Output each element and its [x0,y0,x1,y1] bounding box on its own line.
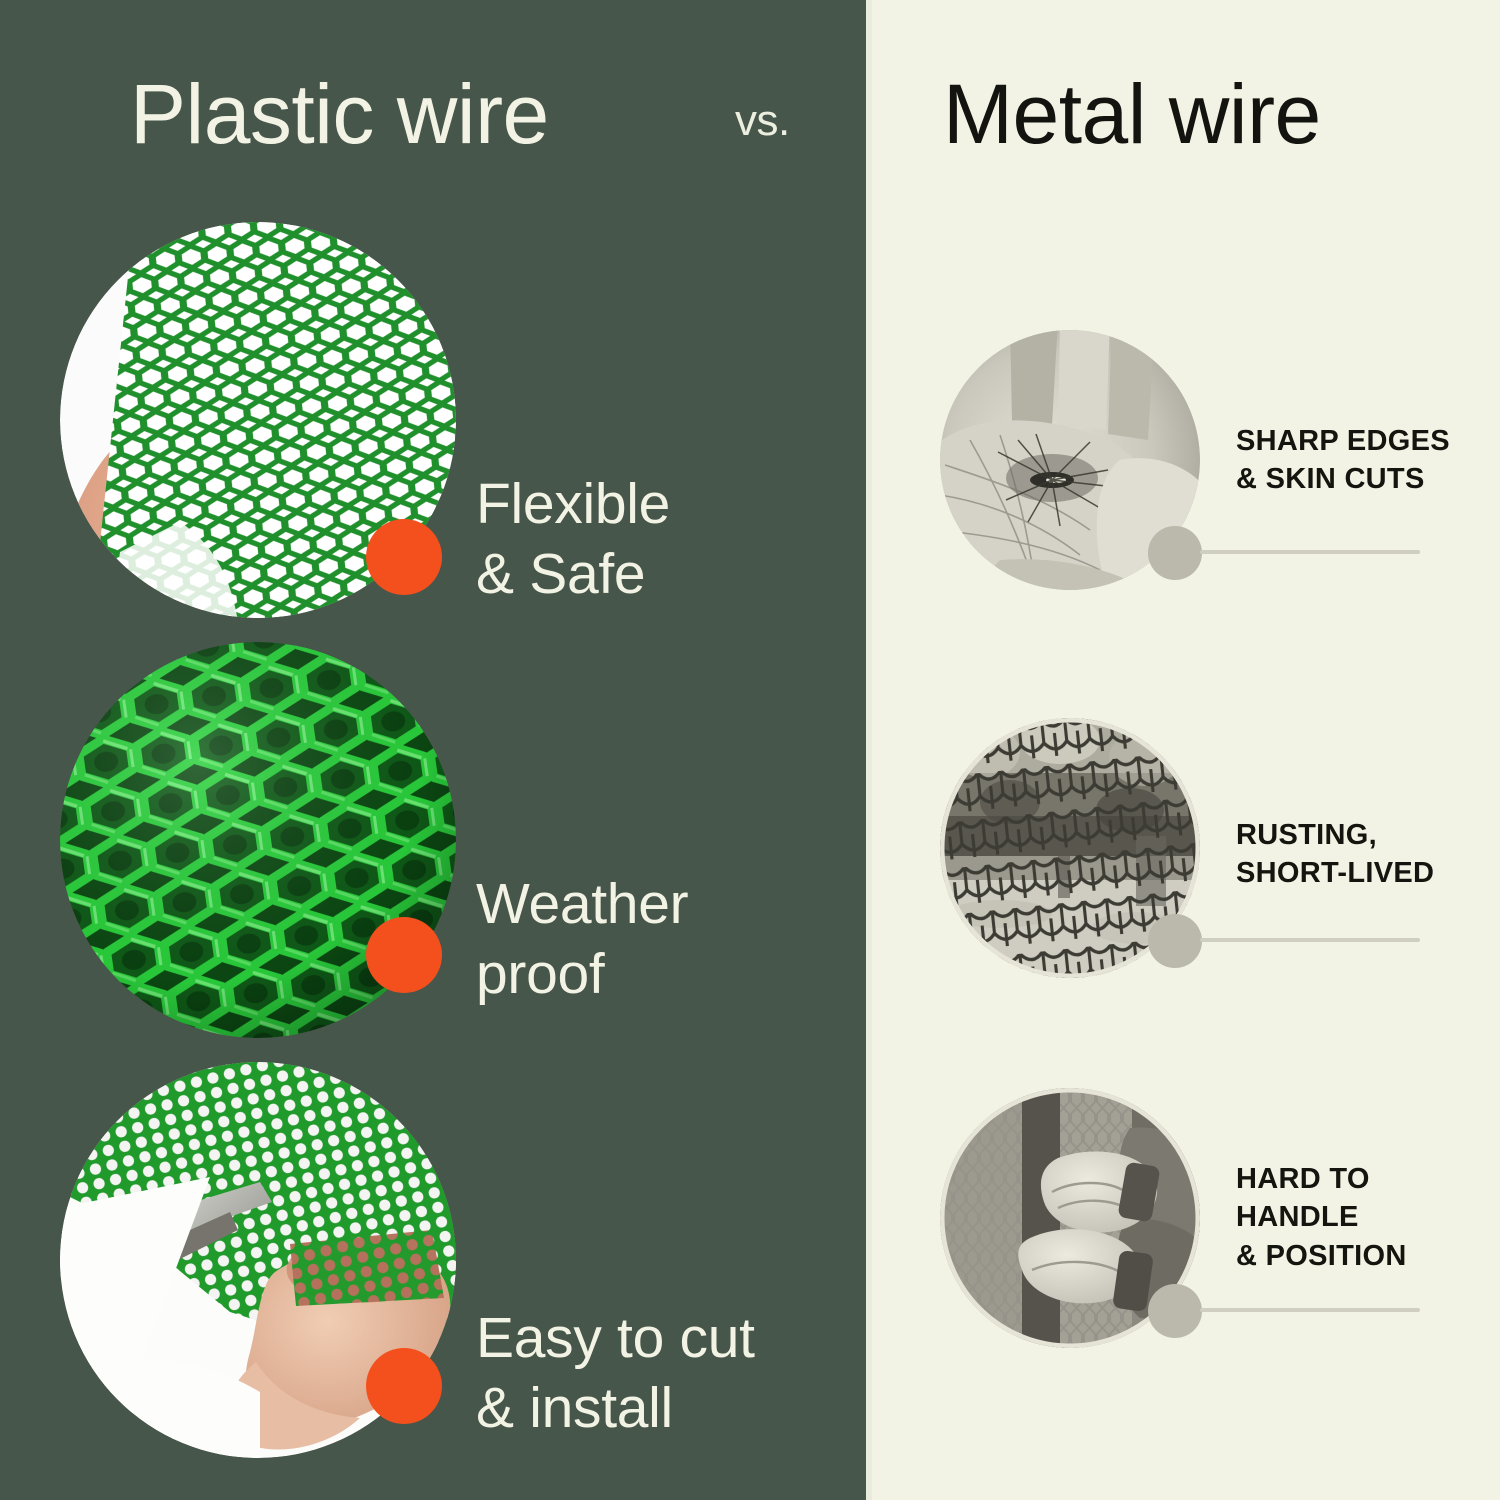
feature-label-weather-proof: Weather proof [476,870,688,1009]
connector-line [1200,938,1420,942]
feature-label-flexible-safe: Flexible & Safe [476,470,670,609]
gray-marker-dot [1148,914,1202,968]
feature-label-easy-to-cut-install: Easy to cut & install [476,1304,755,1443]
orange-marker-dot [366,519,442,595]
panel-divider [866,0,872,1500]
orange-marker-dot [366,1348,442,1424]
connector-line [1200,550,1420,554]
drawback-label-rusting-short-lived: RUSTING, SHORT-LIVED [1236,816,1434,893]
versus-label: vs. [735,96,790,146]
gray-marker-dot [1148,526,1202,580]
drawback-label-sharp-edges: SHARP EDGES & SKIN CUTS [1236,422,1450,499]
orange-marker-dot [366,917,442,993]
plastic-wire-title: Plastic wire [130,66,549,163]
connector-line [1200,1308,1420,1312]
drawback-label-hard-to-handle: HARD TO HANDLE & POSITION [1236,1160,1407,1275]
gray-marker-dot [1148,1284,1202,1338]
metal-wire-title: Metal wire [943,66,1321,163]
comparison-infographic: Plastic wire vs. Metal wire [0,0,1500,1500]
